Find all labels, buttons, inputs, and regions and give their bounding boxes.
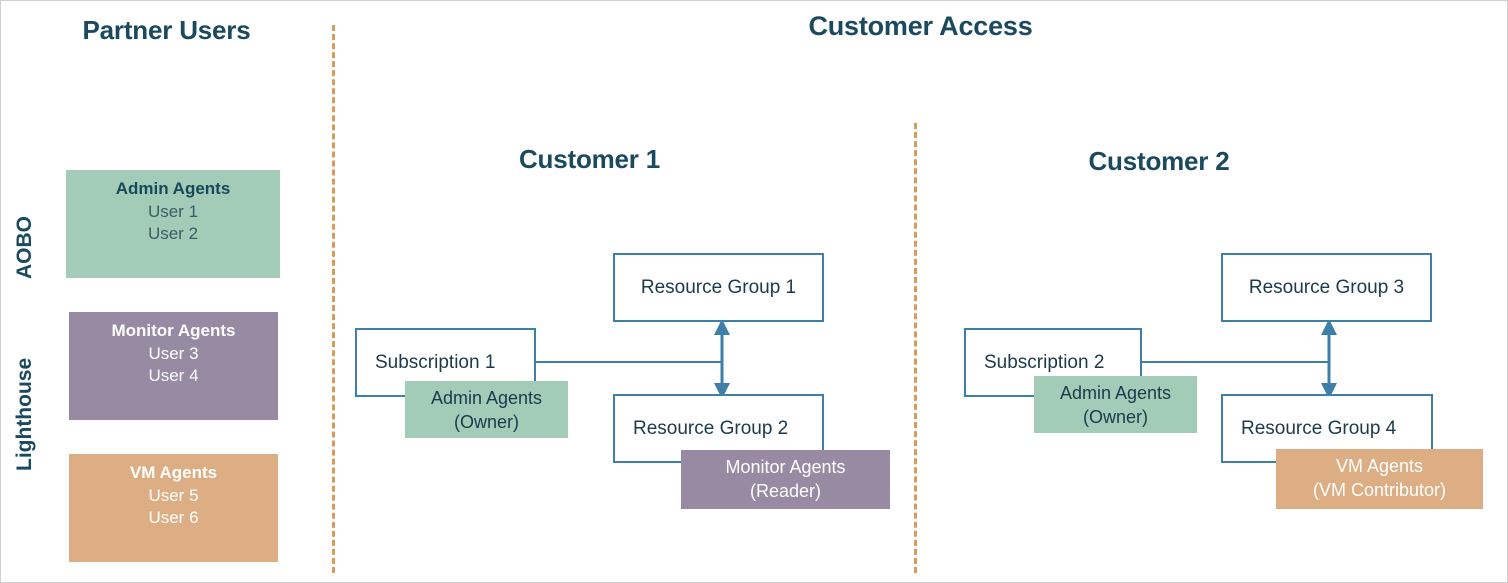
customer1-customer2-divider — [914, 123, 917, 573]
subscription-2-connector — [1141, 361, 1328, 363]
lighthouse-tier-label: Lighthouse — [13, 358, 37, 471]
user-group-admin-agents: Admin Agents User 1 User 2 — [66, 170, 280, 278]
resource-group-3-box[interactable]: Resource Group 3 — [1221, 253, 1432, 322]
user-group-member: User 1 — [66, 201, 280, 224]
role-scope: (Reader) — [681, 480, 890, 504]
user-group-member: User 6 — [69, 507, 278, 530]
user-group-title: Admin Agents — [66, 178, 280, 201]
resource-group-4-label: Resource Group 4 — [1241, 418, 1396, 440]
resource-group-2-role-badge: Monitor Agents (Reader) — [681, 450, 890, 509]
role-scope: (VM Contributor) — [1276, 479, 1483, 503]
customer-2-title: Customer 2 — [929, 146, 1389, 177]
user-group-monitor-agents: Monitor Agents User 3 User 4 — [69, 312, 278, 420]
user-group-member: User 2 — [66, 223, 280, 246]
role-name: Admin Agents — [405, 387, 568, 411]
partner-customer-divider — [332, 25, 335, 573]
user-group-member: User 3 — [69, 343, 278, 366]
role-scope: (Owner) — [405, 411, 568, 435]
customer-1-title: Customer 1 — [357, 144, 822, 175]
aobo-tier-label: AOBO — [13, 216, 37, 279]
partner-users-title: Partner Users — [1, 15, 332, 46]
resource-group-1-2-arrow — [709, 319, 735, 399]
user-group-member: User 4 — [69, 365, 278, 388]
resource-group-2-label: Resource Group 2 — [633, 418, 788, 440]
user-group-title: VM Agents — [69, 462, 278, 485]
role-name: VM Agents — [1276, 455, 1483, 479]
subscription-1-label: Subscription 1 — [375, 352, 495, 374]
resource-group-4-role-badge: VM Agents (VM Contributor) — [1276, 449, 1483, 509]
resource-group-3-4-arrow — [1316, 319, 1342, 399]
subscription-1-connector — [535, 361, 722, 363]
resource-group-3-label: Resource Group 3 — [1249, 277, 1404, 299]
customer-access-title: Customer Access — [332, 11, 1508, 42]
user-group-title: Monitor Agents — [69, 320, 278, 343]
diagram-canvas: Partner Users Customer Access AOBO Light… — [0, 0, 1508, 583]
resource-group-1-box[interactable]: Resource Group 1 — [613, 253, 824, 322]
role-name: Monitor Agents — [681, 456, 890, 480]
user-group-member: User 5 — [69, 485, 278, 508]
role-name: Admin Agents — [1034, 382, 1197, 406]
subscription-1-role-badge: Admin Agents (Owner) — [405, 381, 568, 438]
subscription-2-role-badge: Admin Agents (Owner) — [1034, 376, 1197, 433]
resource-group-1-label: Resource Group 1 — [641, 277, 796, 299]
user-group-vm-agents: VM Agents User 5 User 6 — [69, 454, 278, 562]
subscription-2-label: Subscription 2 — [984, 352, 1104, 374]
role-scope: (Owner) — [1034, 406, 1197, 430]
